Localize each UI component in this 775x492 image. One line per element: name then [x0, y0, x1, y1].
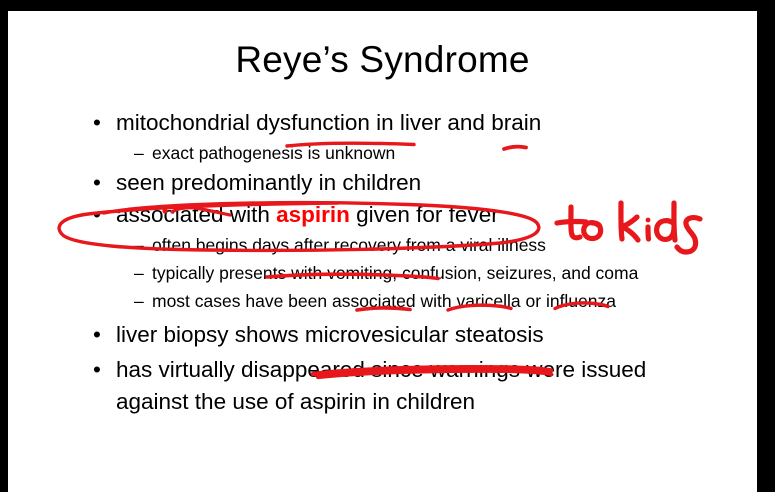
bullet-marker: •	[93, 354, 101, 386]
list-item-text: exact pathogenesis is unknown	[152, 143, 395, 163]
dash-marker: –	[134, 231, 144, 259]
list-item-text: against the use of aspirin in children	[116, 389, 475, 414]
dash-marker: –	[134, 139, 144, 167]
list-item-text: often begins days after recovery from a …	[152, 235, 546, 255]
letter-s-flourish	[677, 218, 700, 252]
bullet-marker: •	[93, 167, 101, 199]
list-item-text: mitochondrial dysfunction in liver and b…	[116, 110, 541, 135]
list-item: • has virtually disappeared since warnin…	[8, 354, 757, 386]
bullet-marker: •	[93, 319, 101, 351]
aspirin-emphasis: aspirin	[276, 202, 350, 227]
bullet-marker: •	[93, 199, 101, 231]
letter-d-stem	[674, 203, 675, 240]
bullet-marker: •	[93, 107, 101, 139]
page-title: Reye’s Syndrome	[8, 39, 757, 81]
list-item-text: has virtually disappeared since warnings…	[116, 357, 646, 382]
list-item: • liver biopsy shows microvesicular stea…	[8, 319, 757, 351]
list-item: • mitochondrial dysfunction in liver and…	[8, 107, 757, 139]
slide-canvas: Reye’s Syndrome • mitochondrial dysfunct…	[8, 11, 757, 492]
list-item-text: seen predominantly in children	[116, 170, 421, 195]
list-item: – exact pathogenesis is unknown	[8, 139, 757, 167]
list-item: • seen predominantly in children	[8, 167, 757, 199]
letter-t-cross	[557, 221, 586, 223]
letter-o	[584, 223, 601, 239]
letter-d-bowl	[657, 221, 674, 240]
dash-marker: –	[134, 259, 144, 287]
text-after: given for fever	[350, 202, 499, 227]
list-item-text: liver biopsy shows microvesicular steato…	[116, 322, 544, 347]
list-item-text: associated with aspirin given for fever	[116, 202, 499, 227]
list-item: – most cases have been associated with v…	[8, 287, 757, 315]
list-item: – typically presents with vomiting, conf…	[8, 259, 757, 287]
letter-k-stem	[621, 203, 622, 239]
list-item-text: typically presents with vomiting, confus…	[152, 263, 638, 283]
handwritten-note-to-kids	[553, 197, 713, 263]
letter-i-dot	[646, 218, 651, 223]
slide-frame: Reye’s Syndrome • mitochondrial dysfunct…	[0, 0, 775, 492]
list-item-text: most cases have been associated with var…	[152, 291, 616, 311]
letter-i-stem	[648, 227, 649, 239]
text-before: associated with	[116, 202, 276, 227]
dash-marker: –	[134, 287, 144, 315]
list-item-continuation: against the use of aspirin in children	[8, 386, 757, 418]
